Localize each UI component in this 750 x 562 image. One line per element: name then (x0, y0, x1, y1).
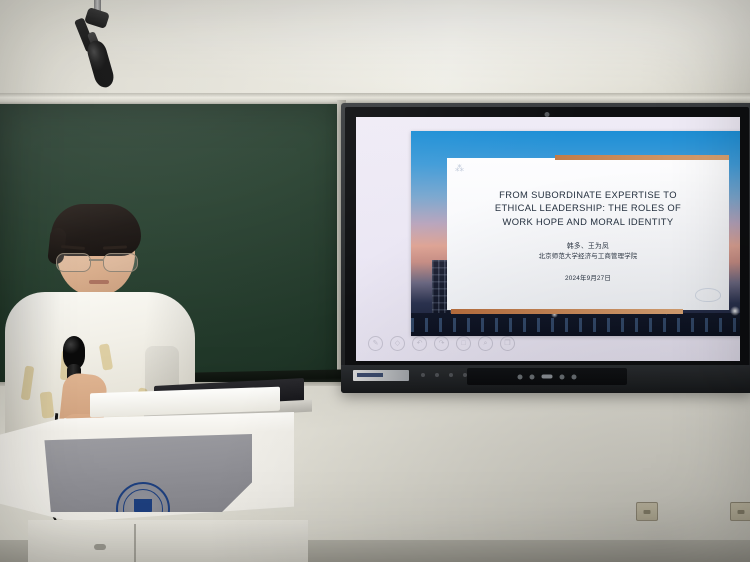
display-chin (341, 365, 750, 393)
source-button[interactable] (572, 374, 577, 379)
shapes-icon[interactable]: □ (456, 336, 471, 351)
slide-title-line-3: WORK HOPE AND MORAL IDENTITY (461, 215, 715, 228)
speaker-buttons[interactable] (518, 374, 577, 379)
lens-left (56, 253, 91, 272)
lectern-front-panel (38, 434, 252, 512)
interactive-smart-display[interactable]: ⁂ FROM SUBORDINATE EXPERTISE TO ETHICAL … (341, 103, 750, 393)
lecture-room-photo: ⁂ FROM SUBORDINATE EXPERTISE TO ETHICAL … (0, 0, 750, 562)
slide-title-line-1: FROM SUBORDINATE EXPERTISE TO (461, 188, 715, 201)
pen-icon[interactable]: ✎ (368, 336, 383, 351)
volume-up-button[interactable] (560, 374, 565, 379)
skyline-lights (411, 318, 740, 332)
slide-title: FROM SUBORDINATE EXPERTISE TO ETHICAL LE… (461, 188, 715, 228)
mouth (89, 280, 109, 284)
display-bezel: ⁂ FROM SUBORDINATE EXPERTISE TO ETHICAL … (345, 107, 749, 367)
whiteboard-toolbar[interactable]: ✎ ◇ ↶ ↷ □ ⌕ ❐ (368, 336, 515, 351)
slide-content-card: ⁂ FROM SUBORDINATE EXPERTISE TO ETHICAL … (447, 158, 729, 310)
redo-icon[interactable]: ↷ (434, 336, 449, 351)
capture-icon[interactable]: ❐ (500, 336, 515, 351)
zoom-icon[interactable]: ⌕ (478, 336, 493, 351)
lectern (0, 398, 314, 562)
slide-accent-bar-top (555, 155, 729, 160)
speaker-control-bar[interactable] (467, 368, 627, 385)
power-button[interactable] (518, 374, 523, 379)
volume-down-button[interactable] (530, 374, 535, 379)
lens-right (103, 253, 138, 272)
glasses-icon (56, 253, 140, 271)
slide-accent-bar-bottom (451, 309, 683, 314)
lectern-base (28, 520, 308, 562)
slide-watermark (695, 288, 721, 302)
slide-date: 2024年9月27日 (461, 274, 715, 284)
glasses-bridge (89, 259, 103, 261)
eraser-icon[interactable]: ◇ (390, 336, 405, 351)
undo-icon[interactable]: ↶ (412, 336, 427, 351)
slide-affiliation: 北京师范大学经济与工商管理学院 (461, 252, 715, 262)
slide-title-line-2: ETHICAL LEADERSHIP: THE ROLES OF (461, 201, 715, 214)
ceiling-microphone-mount (72, 0, 132, 88)
home-button[interactable] (542, 375, 553, 379)
lectern-base-seam (134, 524, 136, 562)
slide-corner-mark: ⁂ (455, 164, 481, 177)
brand-plate (353, 370, 409, 381)
display-screen[interactable]: ⁂ FROM SUBORDINATE EXPERTISE TO ETHICAL … (356, 117, 740, 361)
microphone-joint (84, 7, 110, 29)
wall-outlet (730, 502, 750, 521)
slide-authors: 韩多、王为凤 (461, 242, 715, 252)
wall-outlet (636, 502, 658, 521)
lectern-base-handle[interactable] (94, 544, 106, 550)
presentation-slide[interactable]: ⁂ FROM SUBORDINATE EXPERTISE TO ETHICAL … (411, 131, 740, 336)
shotgun-microphone-icon (85, 38, 116, 89)
